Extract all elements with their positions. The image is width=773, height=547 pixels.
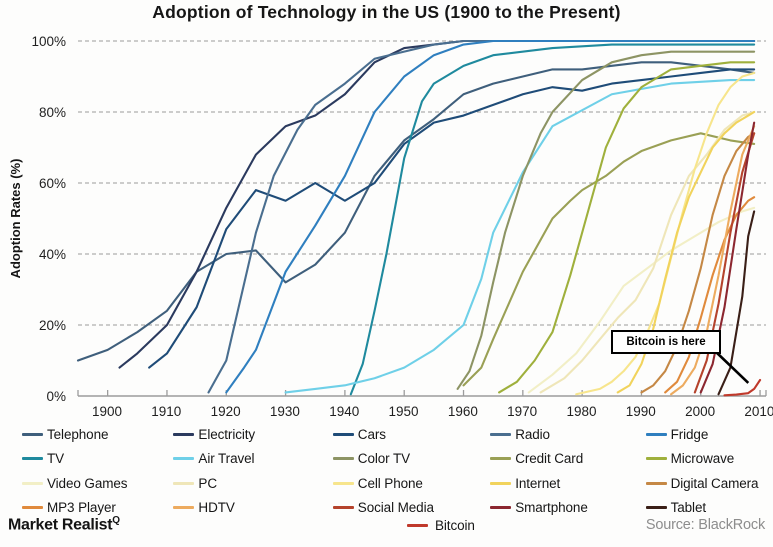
y-axis-title: Adoption Rates (%)	[8, 159, 23, 279]
legend-item-internet: Internet	[468, 476, 623, 491]
legend-label-pc: PC	[198, 476, 217, 491]
legend-swatch-credit-card	[490, 457, 511, 460]
x-tick-label: 1910	[151, 404, 181, 419]
x-tick-label: 1900	[92, 404, 122, 419]
legend-item-air-travel: Air Travel	[151, 451, 310, 466]
series-line-telephone	[78, 62, 754, 360]
legend-swatch-fridge	[646, 433, 667, 436]
line-chart-plot: 0%20%40%60%80%100% 190019101920193019401…	[0, 0, 773, 422]
market-realist-logo: Market RealistQ	[8, 515, 120, 534]
x-tick-label: 1930	[270, 404, 300, 419]
legend-label-color-tv: Color TV	[358, 451, 410, 466]
legend-swatch-telephone	[22, 433, 43, 436]
x-tick-label: 1980	[566, 404, 596, 419]
legend-swatch-air-travel	[173, 457, 194, 460]
legend-swatch-internet	[490, 482, 511, 485]
x-tick-label: 1920	[211, 404, 241, 419]
y-tick-label: 80%	[39, 105, 66, 120]
legend-swatch-hdtv	[173, 506, 194, 509]
legend-label-cars: Cars	[358, 427, 386, 442]
source-credit: Source: BlackRock	[646, 517, 765, 533]
legend-item-cell-phone: Cell Phone	[311, 476, 468, 491]
x-tick-label: 1990	[626, 404, 656, 419]
legend-item-pc: PC	[151, 476, 310, 491]
legend-row: TVAir TravelColor TVCredit CardMicrowave	[0, 447, 773, 472]
bitcoin-annotation-label: Bitcoin is here	[626, 336, 705, 348]
legend-item-color-tv: Color TV	[311, 451, 468, 466]
legend-swatch-mp3-player	[22, 506, 43, 509]
legend-item-digital-camera: Digital Camera	[624, 476, 773, 491]
legend-label-cell-phone: Cell Phone	[358, 476, 423, 491]
legend-label-air-travel: Air Travel	[198, 451, 254, 466]
legend-swatch-color-tv	[333, 457, 354, 460]
series-line-bitcoin	[724, 380, 760, 395]
axis-lines	[78, 390, 766, 396]
legend-item-fridge: Fridge	[624, 427, 773, 442]
legend-swatch-microwave	[646, 457, 667, 460]
legend-swatch-electricity	[173, 433, 194, 436]
legend-swatch-bitcoin	[407, 524, 428, 527]
bitcoin-annotation-box: Bitcoin is here	[611, 330, 721, 354]
x-tick-label: 1940	[329, 404, 359, 419]
legend-item-credit-card: Credit Card	[468, 451, 623, 466]
y-axis-label: Adoption Rates (%)	[8, 159, 23, 279]
legend-label-digital-camera: Digital Camera	[671, 476, 759, 491]
legend-swatch-social-media	[333, 506, 354, 509]
legend-item-cars: Cars	[311, 427, 468, 442]
legend-item-video-games: Video Games	[0, 476, 151, 491]
chart-figure: Adoption of Technology in the US (1900 t…	[0, 0, 773, 547]
legend-label-microwave: Microwave	[671, 451, 735, 466]
y-tick-label: 20%	[39, 318, 66, 333]
legend-item-radio: Radio	[468, 427, 623, 442]
legend-item-tv: TV	[0, 451, 151, 466]
legend-item-telephone: Telephone	[0, 427, 151, 442]
brand-name: Market Realist	[8, 516, 112, 533]
x-tick-label: 1970	[507, 404, 537, 419]
series-line-hdtv	[671, 126, 754, 394]
x-tick-label: 2000	[685, 404, 715, 419]
legend-swatch-cars	[333, 433, 354, 436]
y-tick-label: 0%	[46, 389, 66, 404]
legend-label-fridge: Fridge	[671, 427, 709, 442]
legend-item-microwave: Microwave	[624, 451, 773, 466]
chart-legend: TelephoneElectricityCarsRadioFridgeTVAir…	[0, 422, 773, 508]
legend-label-video-games: Video Games	[47, 476, 127, 491]
x-axis-tick-labels: 1900191019201930194019501960197019801990…	[92, 404, 773, 419]
legend-label-credit-card: Credit Card	[515, 451, 583, 466]
series-line-electricity	[120, 41, 755, 368]
series-line-cars	[149, 69, 754, 367]
x-tick-label: 1950	[389, 404, 419, 419]
legend-label-telephone: Telephone	[47, 427, 108, 442]
legend-row: Video GamesPCCell PhoneInternetDigital C…	[0, 471, 773, 496]
y-tick-label: 60%	[39, 176, 66, 191]
legend-swatch-video-games	[22, 482, 43, 485]
legend-row: TelephoneElectricityCarsRadioFridge	[0, 422, 773, 447]
legend-swatch-cell-phone	[333, 482, 354, 485]
chart-footer: Market RealistQ Bitcoin Source: BlackRoc…	[0, 512, 773, 547]
legend-label-radio: Radio	[515, 427, 550, 442]
y-axis-tick-labels: 0%20%40%60%80%100%	[31, 34, 66, 404]
legend-label-tv: TV	[47, 451, 64, 466]
x-tick-label: 1960	[448, 404, 478, 419]
legend-item-electricity: Electricity	[151, 427, 310, 442]
legend-label-bitcoin: Bitcoin	[435, 518, 475, 533]
y-tick-label: 40%	[39, 247, 66, 262]
legend-swatch-tablet	[646, 506, 667, 509]
legend-swatch-pc	[173, 482, 194, 485]
legend-label-internet: Internet	[515, 476, 560, 491]
legend-swatch-tv	[22, 457, 43, 460]
legend-label-electricity: Electricity	[198, 427, 255, 442]
legend-item-bitcoin: Bitcoin	[407, 518, 475, 533]
gridlines	[78, 41, 766, 325]
magnifier-icon: Q	[112, 515, 119, 526]
x-tick-label: 2010	[744, 404, 773, 419]
y-tick-label: 100%	[31, 34, 66, 49]
legend-swatch-smartphone	[490, 506, 511, 509]
legend-swatch-radio	[490, 433, 511, 436]
legend-swatch-digital-camera	[646, 482, 667, 485]
